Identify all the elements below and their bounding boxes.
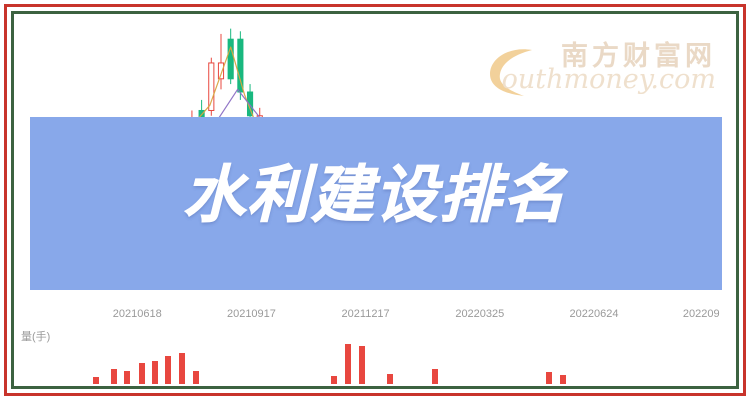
candle [238, 31, 243, 100]
volume-bar [165, 356, 171, 384]
volume-bar [546, 372, 552, 384]
screenshot-root: 水利建设排名 202106182021091720211217202203252… [0, 0, 750, 400]
volume-bar [331, 376, 337, 384]
volume-bar [345, 344, 351, 384]
candle [218, 34, 223, 89]
volume-bar [179, 353, 185, 385]
candle [209, 58, 214, 116]
volume-bar [387, 374, 393, 385]
volume-bar [359, 346, 365, 384]
overlay-title: 水利建设排名 [16, 164, 734, 226]
chart-canvas: 水利建设排名 202106182021091720211217202203252… [16, 16, 734, 384]
volume-bar [93, 377, 99, 384]
volume-bar [111, 369, 117, 384]
x-axis-ticks: 2021061820210917202112172022032520220624… [16, 308, 734, 326]
x-tick-label: 202209 [683, 308, 720, 320]
volume-pane: 量(手) [16, 328, 734, 384]
x-tick-label: 20220624 [569, 308, 618, 320]
x-tick-label: 20210917 [227, 308, 276, 320]
x-tick-label: 20211217 [342, 308, 390, 320]
volume-bar [193, 371, 199, 384]
volume-bar [560, 375, 566, 384]
x-tick-label: 20210618 [113, 308, 162, 320]
volume-bars [16, 342, 734, 384]
volume-bar [124, 371, 130, 384]
candle [228, 29, 233, 84]
volume-bar [139, 363, 145, 384]
x-tick-label: 20220325 [455, 308, 504, 320]
volume-bar [432, 369, 438, 384]
volume-bar [152, 361, 158, 384]
